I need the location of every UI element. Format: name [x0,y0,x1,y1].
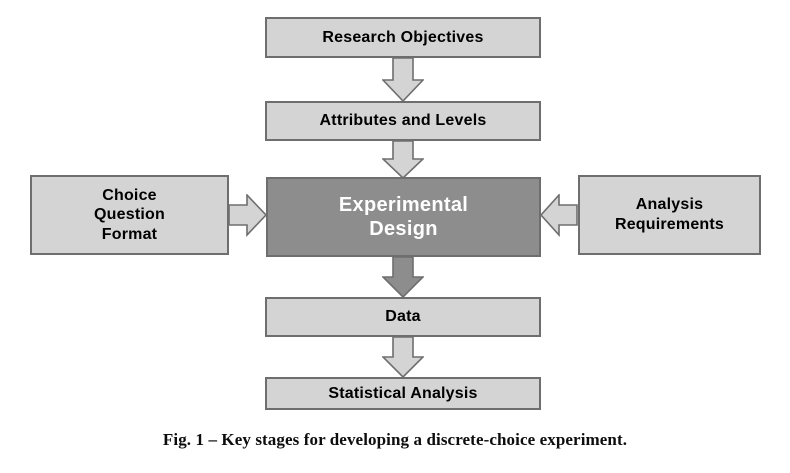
node-attributes-and-levels: Attributes and Levels [265,101,541,141]
node-label-data: Data [379,307,426,327]
node-data: Data [265,297,541,337]
figure-container: Research Objectives Attributes and Level… [0,0,790,473]
node-research-objectives: Research Objectives [265,17,541,58]
node-label-experimental-design: Experimental Design [333,193,474,241]
node-label-analysis-requirements: Analysis Requirements [609,195,730,234]
node-analysis-requirements: Analysis Requirements [578,175,761,255]
arrow-down-design-to-data [382,257,424,298]
arrow-down-data-to-statistical-analysis [382,337,424,378]
node-statistical-analysis: Statistical Analysis [265,377,541,410]
node-experimental-design: Experimental Design [266,177,541,257]
node-label-attributes-and-levels: Attributes and Levels [314,111,493,131]
arrow-down-research-to-attributes [382,58,424,102]
node-label-statistical-analysis: Statistical Analysis [322,384,483,404]
figure-caption: Fig. 1 – Key stages for developing a dis… [0,430,790,450]
arrow-right-format-to-design [229,194,267,237]
arrow-left-analysis-to-design [540,194,578,237]
node-choice-question-format: Choice Question Format [30,175,229,255]
arrow-down-attributes-to-design [382,141,424,179]
node-label-choice-question-format: Choice Question Format [88,186,171,245]
node-label-research-objectives: Research Objectives [316,28,489,48]
